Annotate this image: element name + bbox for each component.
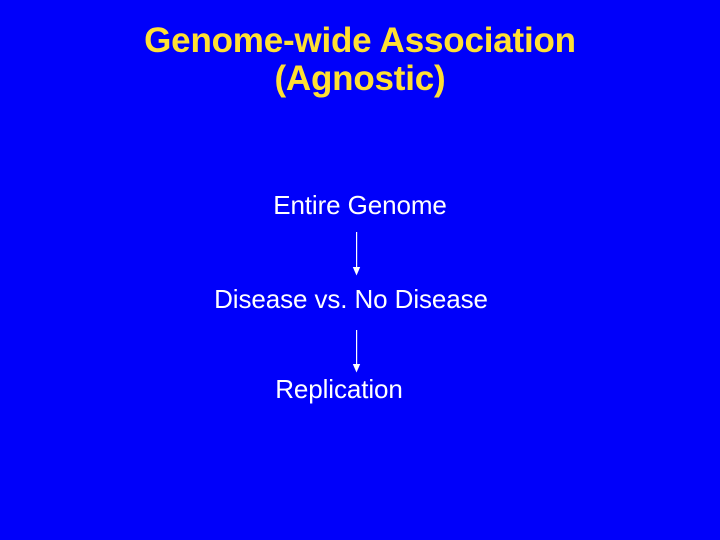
flow-node-replication: Replication — [0, 374, 720, 405]
flow-node-disease-vs-no-disease: Disease vs. No Disease — [0, 284, 720, 315]
slide-title: Genome-wide Association (Agnostic) — [0, 22, 720, 98]
flow-node-entire-genome: Entire Genome — [0, 190, 720, 221]
slide-title-line-1: Genome-wide Association — [0, 22, 720, 60]
down-arrow-icon — [352, 330, 361, 373]
slide-title-line-2: (Agnostic) — [0, 60, 720, 98]
flow-node-label: Disease vs. No Disease — [214, 284, 488, 315]
presentation-slide: Genome-wide Association (Agnostic) Entir… — [0, 0, 720, 540]
flow-node-label: Replication — [275, 374, 403, 405]
down-arrow-icon — [352, 232, 361, 276]
flow-node-label: Entire Genome — [273, 190, 447, 221]
